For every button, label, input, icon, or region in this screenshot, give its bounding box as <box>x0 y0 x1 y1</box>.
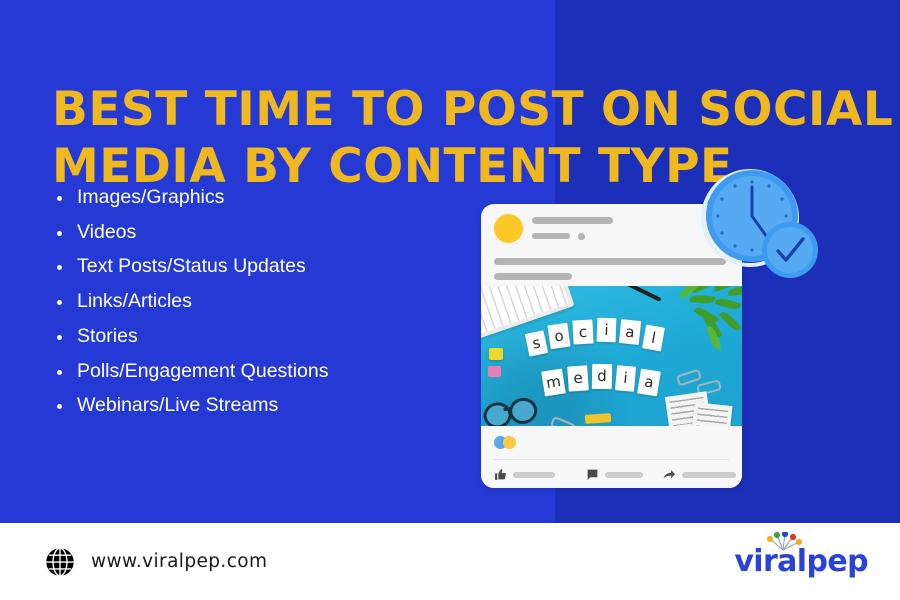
user-avatar <box>494 214 523 243</box>
website-url: www.viralpep.com <box>91 551 267 572</box>
post-privacy-dot-icon <box>578 233 585 240</box>
letter-tile: a <box>637 369 661 397</box>
reaction-yellow-icon <box>503 436 516 449</box>
list-item: Videos <box>52 215 472 250</box>
post-photo: s o c i a l m e d i a <box>481 286 742 426</box>
binder-clip-yellow <box>489 348 503 360</box>
comment-action-bar <box>605 472 643 478</box>
note-paper-2 <box>692 402 733 426</box>
content-type-list: Images/Graphics Videos Text Posts/Status… <box>52 180 472 423</box>
list-item: Text Posts/Status Updates <box>52 249 472 284</box>
thumbs-up-icon <box>494 468 507 481</box>
share-action[interactable] <box>662 468 736 481</box>
plant-prop <box>676 286 742 338</box>
letter-tile: m <box>541 369 566 397</box>
website-link[interactable]: www.viralpep.com <box>45 547 267 577</box>
comment-action[interactable] <box>586 468 643 481</box>
binder-clip-pink <box>488 366 501 377</box>
comment-icon <box>586 468 599 481</box>
sticky-note-prop <box>585 413 612 424</box>
page-footer: www.viralpep.com viralpep <box>0 523 900 600</box>
post-text-line-2 <box>494 273 572 280</box>
letter-tile: e <box>567 365 589 391</box>
letter-tile: o <box>547 323 570 350</box>
letter-tile: d <box>592 364 612 389</box>
clock-badge <box>693 168 820 285</box>
list-item: Webinars/Live Streams <box>52 388 472 423</box>
viralpep-logo[interactable]: viralpep <box>734 547 868 577</box>
globe-icon <box>45 547 75 577</box>
footer-divider <box>494 459 729 460</box>
post-meta-placeholder <box>532 233 570 239</box>
letter-tile: a <box>619 319 641 345</box>
social-media-poster: Best Time To Post On Social Media By Con… <box>0 0 900 600</box>
post-card-footer <box>481 426 742 488</box>
list-item: Images/Graphics <box>52 180 472 215</box>
list-item: Stories <box>52 319 472 354</box>
page-title-line-1: Best Time To Post On Social <box>52 81 852 138</box>
list-item: Polls/Engagement Questions <box>52 354 472 389</box>
like-action-bar <box>513 472 555 478</box>
list-item: Links/Articles <box>52 284 472 319</box>
letter-tile: i <box>615 365 636 392</box>
post-action-row <box>494 468 730 484</box>
share-action-bar <box>682 472 736 478</box>
letter-tile: i <box>597 318 617 343</box>
author-name-placeholder <box>532 217 613 224</box>
share-icon <box>662 468 676 481</box>
like-action[interactable] <box>494 468 555 481</box>
letter-tile: c <box>572 319 593 344</box>
post-text-line-1 <box>494 258 726 265</box>
spark-burst-icon <box>761 532 805 552</box>
